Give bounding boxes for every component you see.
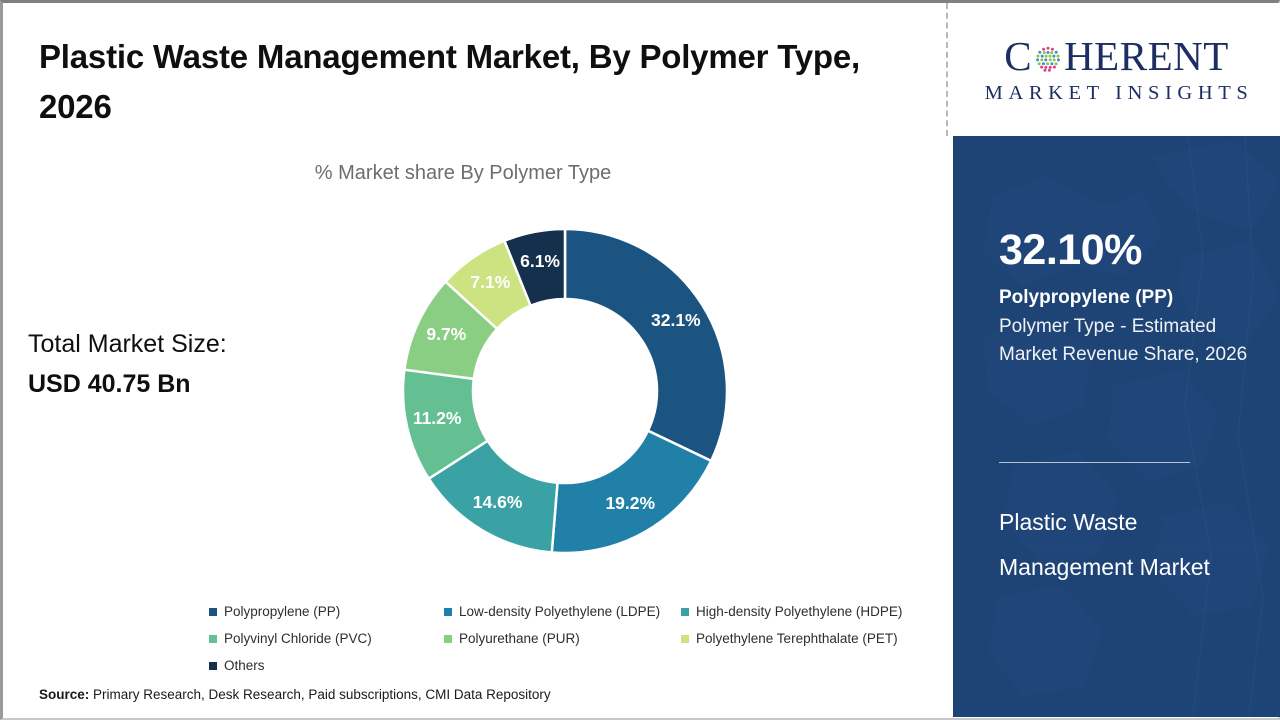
chart-legend: Polypropylene (PP)Low-density Polyethyle… xyxy=(209,598,929,679)
legend-swatch-icon xyxy=(209,608,217,616)
stat-name: Polypropylene (PP) xyxy=(999,286,1173,310)
market-name: Plastic Waste Management Market xyxy=(999,500,1249,590)
brand-panel: C xyxy=(953,3,1280,717)
legend-row: Polypropylene (PP)Low-density Polyethyle… xyxy=(209,598,929,625)
logo-wordmark: C xyxy=(1004,36,1229,77)
highlight-panel: 32.10% Polypropylene (PP) Polymer Type -… xyxy=(953,136,1280,717)
page-title: Plastic Waste Management Market, By Poly… xyxy=(39,32,909,132)
dotted-globe-icon xyxy=(1033,44,1063,74)
donut-slice-label: 11.2% xyxy=(413,408,462,428)
legend-item-label: Polyvinyl Chloride (PVC) xyxy=(224,631,372,646)
legend-row: Others xyxy=(209,652,929,679)
legend-item[interactable]: Polypropylene (PP) xyxy=(209,604,444,619)
stat-value: 32.10% xyxy=(999,229,1142,272)
stat-description: Polymer Type - Estimated Market Revenue … xyxy=(999,313,1251,369)
total-market-size-label: Total Market Size: xyxy=(28,325,358,365)
donut-slice xyxy=(565,229,727,461)
legend-item[interactable]: Polyethylene Terephthalate (PET) xyxy=(681,631,921,646)
infographic-slide: Plastic Waste Management Market, By Poly… xyxy=(0,0,1280,720)
divider-rule xyxy=(999,462,1190,463)
legend-swatch-icon xyxy=(209,635,217,643)
donut-slice-label: 7.1% xyxy=(470,272,510,292)
chart-subtitle: % Market share By Polymer Type xyxy=(3,162,923,185)
legend-swatch-icon xyxy=(444,608,452,616)
highlight-content: 32.10% Polypropylene (PP) Polymer Type -… xyxy=(999,136,1259,717)
legend-swatch-icon xyxy=(681,635,689,643)
donut-slice-label: 32.1% xyxy=(651,310,701,330)
total-market-size: Total Market Size: USD 40.75 Bn xyxy=(28,325,358,404)
source-value: Primary Research, Desk Research, Paid su… xyxy=(89,687,550,702)
legend-item[interactable]: Low-density Polyethylene (LDPE) xyxy=(444,604,681,619)
donut-chart-svg: 32.1%19.2%14.6%11.2%9.7%7.1%6.1% xyxy=(395,221,735,561)
logo-letter-c: C xyxy=(1004,36,1032,77)
chart-panel: Plastic Waste Management Market, By Poly… xyxy=(3,3,945,717)
legend-item[interactable]: Polyvinyl Chloride (PVC) xyxy=(209,631,444,646)
donut-slice xyxy=(552,431,711,553)
legend-item[interactable]: High-density Polyethylene (HDPE) xyxy=(681,604,921,619)
source-label: Source: xyxy=(39,687,89,702)
legend-swatch-icon xyxy=(444,635,452,643)
total-market-size-value: USD 40.75 Bn xyxy=(28,365,358,405)
legend-swatch-icon xyxy=(209,662,217,670)
legend-item-label: Polyurethane (PUR) xyxy=(459,631,580,646)
legend-item-label: High-density Polyethylene (HDPE) xyxy=(696,604,902,619)
legend-item[interactable]: Others xyxy=(209,658,444,673)
legend-item-label: Others xyxy=(224,658,265,673)
logo-text-herent: HERENT xyxy=(1064,36,1229,77)
donut-slice-label: 14.6% xyxy=(473,492,523,512)
source-bar: Source: Primary Research, Desk Research,… xyxy=(3,687,945,717)
source-text: Source: Primary Research, Desk Research,… xyxy=(39,687,551,702)
logo-tagline: MARKET INSIGHTS xyxy=(980,82,1254,105)
legend-swatch-icon xyxy=(681,608,689,616)
legend-item-label: Polypropylene (PP) xyxy=(224,604,340,619)
legend-row: Polyvinyl Chloride (PVC)Polyurethane (PU… xyxy=(209,625,929,652)
legend-item-label: Polyethylene Terephthalate (PET) xyxy=(696,631,898,646)
logo: C xyxy=(953,5,1280,136)
panel-divider xyxy=(946,3,948,136)
donut-slice-label: 9.7% xyxy=(426,324,466,344)
legend-item-label: Low-density Polyethylene (LDPE) xyxy=(459,604,660,619)
donut-slice-label: 19.2% xyxy=(605,493,655,513)
donut-chart: 32.1%19.2%14.6%11.2%9.7%7.1%6.1% xyxy=(395,221,735,561)
donut-slice-label: 6.1% xyxy=(520,251,560,271)
legend-item[interactable]: Polyurethane (PUR) xyxy=(444,631,681,646)
